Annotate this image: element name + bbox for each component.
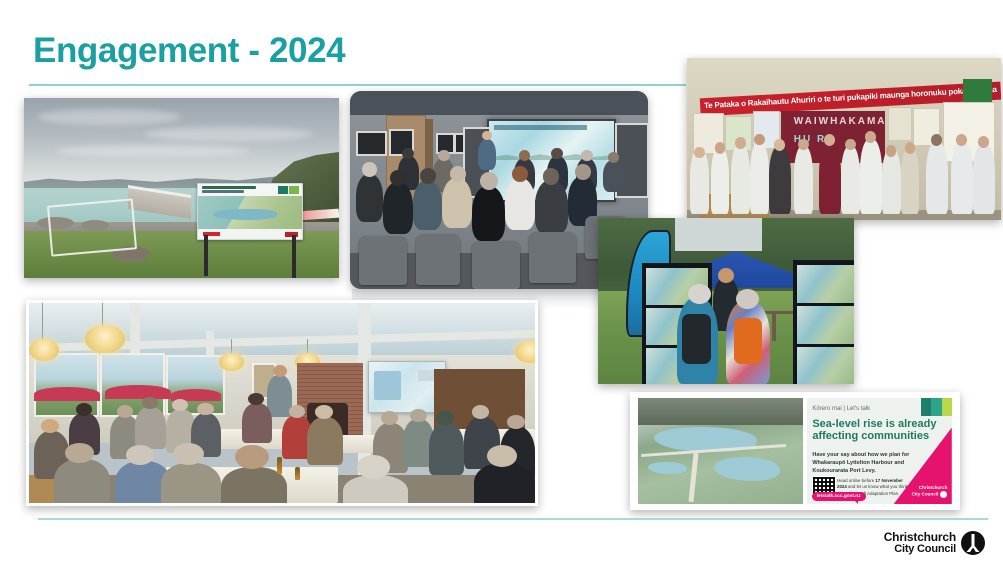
outdoor-umbrella [105,385,171,399]
footer-divider [38,518,988,520]
attendee-head [507,415,525,429]
student [882,149,901,214]
attendee-head [575,164,591,180]
poster-body: Have your say about how we plan for Whak… [812,452,917,475]
brand-bar-lime [942,398,952,416]
chair [359,236,407,286]
student-head [715,142,726,153]
pendant-lamp [85,325,125,353]
attendee-foreground [161,463,222,506]
attendee [356,174,383,222]
attendee-head [581,150,592,161]
display-board-right [793,260,854,385]
student-head [798,139,809,150]
teacher-head [774,139,785,151]
backpack [682,314,710,364]
chair [472,241,520,289]
attendee-head [173,443,203,465]
student [926,142,948,213]
attendee [535,180,568,233]
presenter-head [273,365,287,377]
attendee [505,178,535,229]
sign-subheading-bar [202,190,244,192]
fence-post [772,311,776,341]
teardrop-banner-text: Adapting to sea level rise [633,230,651,249]
student [711,147,730,213]
attendee [383,182,413,233]
slide-canvas: Engagement - 2024 [0,0,1003,565]
wall-picture [356,131,387,157]
attendee-head [362,162,377,177]
student-head [956,134,967,146]
student [860,139,882,214]
poster-council-logo: Christchurch City Council [912,485,948,498]
poster-brand-line2: City Council [912,491,939,496]
sign-post-right [292,235,296,278]
poster-eyebrow: Kōrero mai | Let's talk [812,406,870,412]
student-head [754,134,765,145]
sign-map-water [213,209,277,220]
attendee-head [315,405,333,419]
ceiling [350,91,648,115]
cloud [144,127,314,141]
student [951,142,973,213]
visitor-head [688,284,711,304]
student [794,146,813,214]
attendee-head [76,403,92,416]
attendee-foreground [343,475,409,506]
council-logo-line1: Christchurch [884,531,956,544]
chair [416,234,461,285]
pendant-lamp [219,353,244,371]
poster-illustration [638,398,803,504]
sign-map [198,196,302,229]
attendee [307,417,342,465]
student-head [905,142,916,153]
page-title: Engagement - 2024 [33,31,345,71]
poster-brand-line1: Christchurch [919,485,948,490]
presenter [478,139,496,171]
brand-bar-green [931,398,941,416]
photo-school-classroom: Te Pataka o Rakaihautu Ahuriri o te turi… [687,58,1001,220]
council-mark-icon [940,491,947,498]
white-survey-frame [47,199,137,257]
photo-community-hall [26,300,538,506]
staff-head [718,268,733,283]
photo-harbour-information-board [24,98,339,278]
attendee-head [436,411,454,425]
attendee-head [450,166,466,182]
attendee-head [289,405,305,418]
attendee [135,407,165,449]
attendee-head [438,150,449,161]
attendee-head [357,455,390,479]
student-head [865,131,876,143]
student-head [978,136,989,148]
attendee [429,423,464,475]
student [731,144,750,214]
poster-headline: Sea-level rise is already affecting comm… [812,418,948,443]
attendee-head [390,170,406,186]
student-head [845,139,856,150]
student [750,142,769,213]
photo-outdoor-stand: Adapting to sea level rise [598,218,854,384]
attendee-foreground [54,459,110,506]
bottle [295,467,300,480]
attendee [442,178,472,228]
council-mark-icon [961,531,985,555]
bottle [277,457,282,474]
fine-print-lead: Head online before [837,478,875,483]
attendee [472,186,505,241]
pendant-lamp [515,341,538,363]
information-board [197,183,303,241]
attendee-head [235,445,268,469]
teacher [819,144,841,214]
student [690,149,709,214]
attendee-head [65,443,93,463]
attendee-head [117,405,133,418]
brand-bar-teal [921,398,931,416]
sign-chip-green [289,186,299,194]
attendee-head [197,403,213,415]
attendee-head [420,168,436,184]
student [901,147,920,213]
attendee-foreground [474,463,535,506]
sign-heading-bar [202,186,256,189]
title-divider [29,84,686,86]
council-logo: Christchurch City Council [884,531,985,555]
poster-url-pill: letstalk.ccc.govt.nz [812,492,866,501]
outdoor-umbrella [34,387,100,401]
student [973,144,995,214]
cloud [37,109,182,125]
attendee-head [543,168,560,185]
attendee [603,160,624,192]
student-head [931,134,942,146]
chair [529,232,577,283]
wall-poster [888,107,912,141]
poster-sea-level-rise: Kōrero mai | Let's talk Sea-level rise i… [630,392,960,510]
backpack [734,318,762,364]
council-logo-line2: City Council [884,544,956,556]
attendee-head [410,409,427,422]
green-wall-chart [963,79,991,103]
attendee-head [487,445,517,467]
student-head [886,145,897,156]
teacher [769,146,791,214]
whiteboard-text: WAIWHAKAMA [794,116,887,127]
student [841,146,860,214]
sky [675,218,762,251]
sign-chip-teal [278,186,287,194]
sign-post-left [204,235,208,276]
attendee [413,180,443,230]
poster-text-panel: Kōrero mai | Let's talk Sea-level rise i… [807,398,952,504]
student-head [735,137,746,148]
attendee [242,403,272,443]
attendee-head [480,172,498,190]
